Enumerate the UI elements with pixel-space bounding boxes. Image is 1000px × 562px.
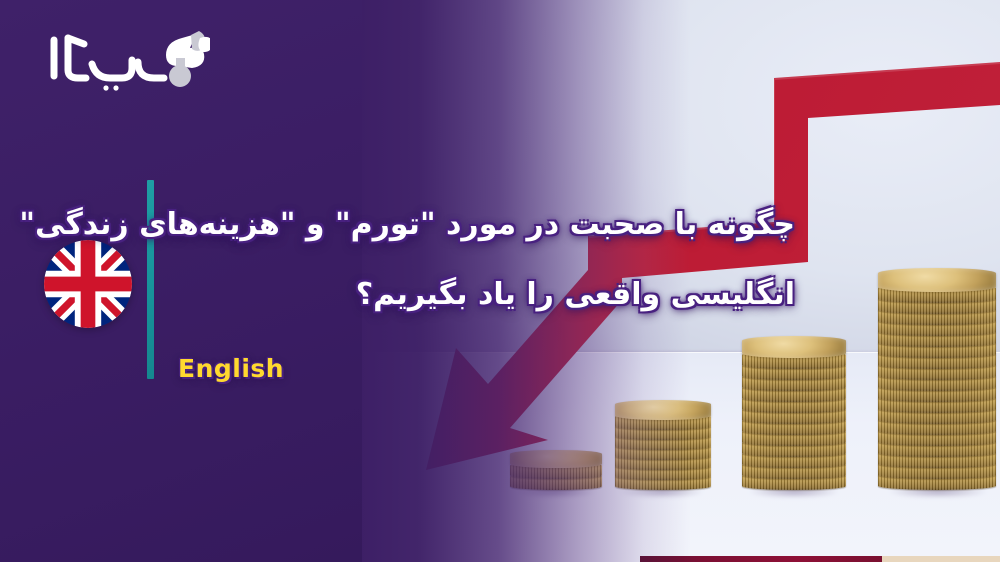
promo-banner: چگونه با صحبت در مورد "تورم" و "هزینه‌ها… — [0, 0, 1000, 562]
coin — [510, 450, 602, 468]
coin-stack-3 — [742, 340, 846, 490]
headline-line-2: انگلیسی واقعی را یاد بگیریم؟ — [175, 260, 795, 330]
chika-logo[interactable] — [40, 22, 210, 94]
bottom-red-strip — [640, 556, 882, 562]
chika-logo-svg — [40, 22, 210, 94]
category-label-english[interactable]: English — [178, 354, 284, 383]
bottom-tan-strip — [882, 556, 1000, 562]
page-title: چگونه با صحبت در مورد "تورم" و "هزینه‌ها… — [175, 190, 795, 330]
chika-bird-mark — [166, 31, 210, 87]
coin-stack-2 — [615, 400, 711, 490]
coin-stack-1 — [510, 450, 602, 490]
coin — [878, 268, 996, 292]
coin — [615, 400, 711, 420]
chika-wordmark — [54, 38, 164, 91]
coin — [742, 336, 846, 358]
coin-stack-4 — [878, 270, 996, 490]
headline-line-1: چگونه با صحبت در مورد "تورم" و "هزینه‌ها… — [175, 190, 795, 260]
